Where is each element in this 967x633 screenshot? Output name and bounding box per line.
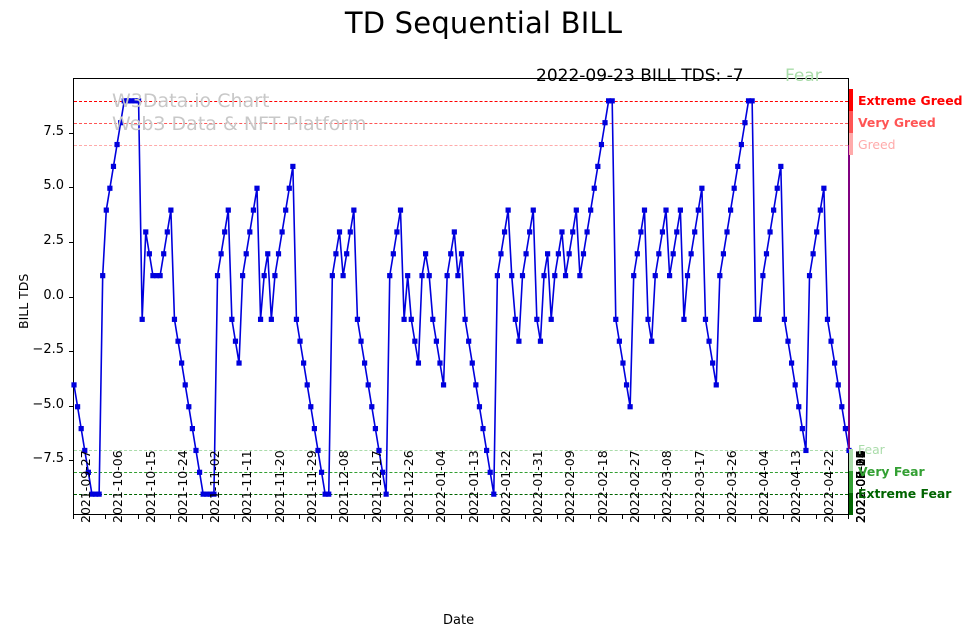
y-tick-mark <box>69 351 73 352</box>
data-point-marker <box>717 273 722 278</box>
data-point-marker <box>107 186 112 191</box>
data-point-marker <box>681 317 686 322</box>
data-point-marker <box>355 317 360 322</box>
data-point-marker <box>488 470 493 475</box>
x-tick-label: 2022-01-13 <box>466 450 481 523</box>
x-tick-mark <box>170 515 171 519</box>
data-point-marker <box>455 273 460 278</box>
y-tick-mark <box>69 242 73 243</box>
data-point-marker <box>348 229 353 234</box>
data-point-marker <box>523 251 528 256</box>
data-point-marker <box>602 120 607 125</box>
x-tick-mark <box>493 515 494 519</box>
data-point-marker <box>584 229 589 234</box>
y-axis-label: BILL TDS <box>16 273 31 328</box>
data-point-marker <box>721 251 726 256</box>
data-point-marker <box>276 251 281 256</box>
x-tick-mark <box>816 515 817 519</box>
y-tick-label: 7.5 <box>0 124 64 139</box>
data-point-marker <box>394 229 399 234</box>
data-point-marker <box>538 339 543 344</box>
data-point-marker <box>75 404 80 409</box>
data-point-marker <box>168 208 173 213</box>
data-point-marker <box>362 360 367 365</box>
x-tick-label: 2022-01-31 <box>530 450 545 523</box>
data-point-marker <box>308 404 313 409</box>
data-point-marker <box>351 208 356 213</box>
data-point-marker <box>172 317 177 322</box>
x-tick-mark <box>267 515 268 519</box>
threshold-axis-bar <box>849 111 853 133</box>
x-tick-mark <box>299 515 300 519</box>
data-point-marker <box>341 273 346 278</box>
data-point-marker <box>556 251 561 256</box>
data-point-marker <box>839 404 844 409</box>
data-point-marker <box>516 339 521 344</box>
data-point-marker <box>333 251 338 256</box>
threshold-axis-bar <box>849 449 853 471</box>
threshold-label-greed: Greed <box>858 137 896 152</box>
x-tick-mark <box>590 515 591 519</box>
data-point-marker <box>638 229 643 234</box>
data-point-marker <box>215 273 220 278</box>
data-point-marker <box>724 229 729 234</box>
data-point-marker <box>452 229 457 234</box>
x-tick-mark <box>783 515 784 519</box>
data-point-marker <box>280 229 285 234</box>
data-point-marker <box>240 273 245 278</box>
data-point-marker <box>821 186 826 191</box>
data-point-marker <box>775 186 780 191</box>
data-point-marker <box>692 229 697 234</box>
data-point-marker <box>764 251 769 256</box>
data-point-marker <box>114 142 119 147</box>
y-tick-mark <box>69 297 73 298</box>
data-point-marker <box>236 360 241 365</box>
data-point-marker <box>398 208 403 213</box>
data-point-marker <box>448 251 453 256</box>
threshold-label-very-greed: Very Greed <box>858 115 936 130</box>
data-point-marker <box>387 273 392 278</box>
x-tick-label: 2021-10-15 <box>143 450 158 523</box>
y-tick-label: −2.5 <box>0 342 64 357</box>
data-point-marker <box>233 339 238 344</box>
x-tick-label: 2022-04-22 <box>821 450 836 523</box>
data-point-marker <box>445 273 450 278</box>
threshold-axis-bar <box>849 133 853 155</box>
threshold-label-extreme-fear: Extreme Fear <box>858 486 951 501</box>
data-point-marker <box>800 426 805 431</box>
data-point-marker <box>305 382 310 387</box>
data-point-marker <box>757 317 762 322</box>
data-point-marker <box>477 404 482 409</box>
data-point-marker <box>506 208 511 213</box>
x-tick-mark <box>105 515 106 519</box>
data-point-marker <box>143 229 148 234</box>
data-point-marker <box>272 273 277 278</box>
data-point-marker <box>656 251 661 256</box>
data-point-marker <box>534 317 539 322</box>
data-point-marker <box>79 426 84 431</box>
data-point-marker <box>186 404 191 409</box>
data-point-marker <box>689 251 694 256</box>
data-point-marker <box>190 426 195 431</box>
data-point-marker <box>624 382 629 387</box>
x-axis-label: Date <box>443 613 474 628</box>
data-point-marker <box>427 273 432 278</box>
data-point-marker <box>620 360 625 365</box>
data-point-marker <box>423 251 428 256</box>
threshold-label-fear: Fear <box>858 442 885 457</box>
data-point-marker <box>782 317 787 322</box>
data-point-marker <box>631 273 636 278</box>
data-point-marker <box>732 186 737 191</box>
data-point-marker <box>767 229 772 234</box>
data-point-marker <box>470 360 475 365</box>
data-point-marker <box>193 448 198 453</box>
x-tick-label: 2022-01-22 <box>498 450 513 523</box>
x-tick-mark <box>848 515 849 519</box>
data-point-marker <box>373 426 378 431</box>
data-point-marker <box>563 273 568 278</box>
data-point-marker <box>818 208 823 213</box>
x-tick-mark <box>138 515 139 519</box>
data-point-marker <box>269 317 274 322</box>
x-tick-mark <box>234 515 235 519</box>
data-point-marker <box>330 273 335 278</box>
data-point-marker <box>807 273 812 278</box>
data-point-marker <box>814 229 819 234</box>
data-point-marker <box>570 229 575 234</box>
data-point-marker <box>649 339 654 344</box>
data-point-marker <box>785 339 790 344</box>
x-tick-mark <box>428 515 429 519</box>
data-point-marker <box>567 251 572 256</box>
x-tick-label: 2021-10-06 <box>110 450 125 523</box>
data-point-marker <box>760 273 765 278</box>
x-tick-label: 2022-02-18 <box>595 450 610 523</box>
data-point-marker <box>502 229 507 234</box>
x-tick-label: 2021-11-11 <box>239 450 254 523</box>
data-point-marker <box>158 273 163 278</box>
data-point-marker <box>559 229 564 234</box>
chart-canvas: TD Sequential BILL 7.55.02.50.0−2.5−5.0−… <box>0 0 967 633</box>
data-point-marker <box>696 208 701 213</box>
data-point-marker <box>495 273 500 278</box>
data-point-marker <box>71 382 76 387</box>
data-point-marker <box>265 251 270 256</box>
data-point-marker <box>222 229 227 234</box>
data-point-marker <box>401 317 406 322</box>
data-point-marker <box>735 164 740 169</box>
data-point-marker <box>642 208 647 213</box>
x-tick-mark <box>751 515 752 519</box>
threshold-label-very-fear: Very Fear <box>858 464 925 479</box>
x-tick-mark <box>73 515 74 519</box>
data-point-marker <box>836 382 841 387</box>
threshold-axis-bar <box>849 493 853 515</box>
data-point-marker <box>592 186 597 191</box>
y-tick-mark <box>69 187 73 188</box>
data-point-marker <box>294 317 299 322</box>
threshold-label-extreme-greed: Extreme Greed <box>858 93 962 108</box>
data-point-marker <box>405 273 410 278</box>
data-point-marker <box>728 208 733 213</box>
data-point-marker <box>384 492 389 497</box>
x-tick-mark <box>687 515 688 519</box>
data-point-marker <box>416 360 421 365</box>
watermark-line-2: Web3 Data & NFT Platform <box>112 113 366 135</box>
x-tick-label: 2022-03-17 <box>692 450 707 523</box>
data-point-marker <box>484 448 489 453</box>
y-tick-label: −5.0 <box>0 397 64 412</box>
data-point-marker <box>262 273 267 278</box>
data-point-marker <box>685 273 690 278</box>
data-point-marker <box>283 208 288 213</box>
y-tick-label: 0.0 <box>0 288 64 303</box>
data-point-marker <box>437 360 442 365</box>
x-tick-label: 2022-03-26 <box>724 450 739 523</box>
data-point-marker <box>498 251 503 256</box>
data-point-marker <box>706 339 711 344</box>
data-point-marker <box>574 208 579 213</box>
y-tick-mark <box>69 133 73 134</box>
data-point-marker <box>391 251 396 256</box>
x-tick-label: 2022-02-09 <box>562 450 577 523</box>
data-point-marker <box>531 208 536 213</box>
current-date-marker <box>848 145 850 451</box>
data-point-marker <box>617 339 622 344</box>
x-tick-label: 2021-12-08 <box>336 450 351 523</box>
data-point-marker <box>473 382 478 387</box>
x-tick-label: 2021-11-20 <box>272 450 287 523</box>
x-tick-label: 2021-12-17 <box>369 450 384 523</box>
x-tick-mark <box>364 515 365 519</box>
data-point-marker <box>219 251 224 256</box>
x-tick-label: 2021-11-29 <box>304 450 319 523</box>
x-tick-mark <box>331 515 332 519</box>
data-point-marker <box>645 317 650 322</box>
y-tick-label: 2.5 <box>0 233 64 248</box>
data-point-marker <box>545 251 550 256</box>
data-point-marker <box>491 492 496 497</box>
data-point-marker <box>581 251 586 256</box>
data-point-marker <box>111 164 116 169</box>
data-point-marker <box>599 142 604 147</box>
data-point-marker <box>258 317 263 322</box>
x-tick-mark <box>396 515 397 519</box>
x-tick-mark <box>719 515 720 519</box>
data-point-marker <box>667 273 672 278</box>
data-point-marker <box>480 426 485 431</box>
data-point-marker <box>254 186 259 191</box>
data-point-marker <box>527 229 532 234</box>
data-point-marker <box>179 360 184 365</box>
x-tick-label: 2022-01-04 <box>433 450 448 523</box>
data-point-marker <box>183 382 188 387</box>
data-point-marker <box>742 120 747 125</box>
x-tick-label: 2022-03-08 <box>659 450 674 523</box>
data-point-marker <box>358 339 363 344</box>
x-tick-label: 2021-12-26 <box>401 450 416 523</box>
threshold-axis-bar <box>849 471 853 493</box>
data-point-marker <box>312 426 317 431</box>
data-point-marker <box>326 492 331 497</box>
x-tick-mark <box>654 515 655 519</box>
data-point-marker <box>610 98 615 103</box>
x-tick-label: 2022-04-13 <box>788 450 803 523</box>
data-point-marker <box>297 339 302 344</box>
x-tick-label: 2021-11-02 <box>207 450 222 523</box>
data-point-marker <box>778 164 783 169</box>
x-tick-label: 2022-02-27 <box>627 450 642 523</box>
data-point-marker <box>97 492 102 497</box>
data-point-marker <box>140 317 145 322</box>
latest-mood-annotation: Fear <box>785 66 822 86</box>
data-point-marker <box>613 317 618 322</box>
data-point-marker <box>319 470 324 475</box>
data-point-marker <box>825 317 830 322</box>
data-point-marker <box>789 360 794 365</box>
data-point-marker <box>541 273 546 278</box>
data-point-marker <box>419 273 424 278</box>
data-point-marker <box>337 229 342 234</box>
data-point-marker <box>100 273 105 278</box>
data-point-marker <box>628 404 633 409</box>
data-point-marker <box>552 273 557 278</box>
data-point-marker <box>595 164 600 169</box>
data-point-marker <box>660 229 665 234</box>
y-tick-label: −7.5 <box>0 451 64 466</box>
data-point-marker <box>244 251 249 256</box>
data-point-marker <box>653 273 658 278</box>
data-point-marker <box>635 251 640 256</box>
x-tick-mark <box>202 515 203 519</box>
data-point-marker <box>287 186 292 191</box>
data-point-marker <box>832 360 837 365</box>
data-point-marker <box>147 251 152 256</box>
data-point-marker <box>229 317 234 322</box>
x-tick-label: 2021-09-27 <box>78 450 93 523</box>
data-point-marker <box>671 251 676 256</box>
data-point-marker <box>509 273 514 278</box>
data-point-marker <box>226 208 231 213</box>
data-point-marker <box>369 404 374 409</box>
data-point-marker <box>466 339 471 344</box>
data-point-marker <box>793 382 798 387</box>
data-point-marker <box>412 339 417 344</box>
x-tick-mark <box>622 515 623 519</box>
series-line <box>74 101 849 494</box>
data-point-marker <box>462 317 467 322</box>
x-tick-mark <box>557 515 558 519</box>
data-point-marker <box>409 317 414 322</box>
data-point-marker <box>811 251 816 256</box>
data-point-marker <box>161 251 166 256</box>
threshold-axis-bar <box>849 89 853 111</box>
data-point-marker <box>366 382 371 387</box>
x-tick-label: 2021-10-24 <box>175 450 190 523</box>
data-point-marker <box>165 229 170 234</box>
y-tick-mark <box>69 406 73 407</box>
watermark-line-1: W3Data.io Chart <box>112 90 269 112</box>
data-point-marker <box>175 339 180 344</box>
data-point-marker <box>739 142 744 147</box>
data-point-marker <box>703 317 708 322</box>
data-point-marker <box>828 339 833 344</box>
data-point-marker <box>803 448 808 453</box>
data-point-marker <box>434 339 439 344</box>
data-point-marker <box>577 273 582 278</box>
x-tick-mark <box>461 515 462 519</box>
data-point-marker <box>104 208 109 213</box>
data-point-marker <box>714 382 719 387</box>
data-point-marker <box>674 229 679 234</box>
data-point-marker <box>290 164 295 169</box>
x-tick-mark <box>525 515 526 519</box>
data-point-marker <box>771 208 776 213</box>
data-point-marker <box>750 98 755 103</box>
data-point-marker <box>301 360 306 365</box>
data-point-marker <box>520 273 525 278</box>
data-point-marker <box>251 208 256 213</box>
y-tick-label: 5.0 <box>0 178 64 193</box>
data-point-marker <box>430 317 435 322</box>
data-point-marker <box>588 208 593 213</box>
data-point-marker <box>344 251 349 256</box>
page-title: TD Sequential BILL <box>0 6 967 40</box>
data-point-marker <box>678 208 683 213</box>
x-tick-label: 2022-04-04 <box>756 450 771 523</box>
data-point-marker <box>549 317 554 322</box>
data-point-marker <box>441 382 446 387</box>
data-point-marker <box>710 360 715 365</box>
data-point-marker <box>197 470 202 475</box>
data-point-marker <box>796 404 801 409</box>
data-point-marker <box>513 317 518 322</box>
data-point-marker <box>247 229 252 234</box>
data-point-marker <box>459 251 464 256</box>
latest-value-annotation: 2022-09-23 BILL TDS: -7 <box>536 66 744 86</box>
data-point-marker <box>699 186 704 191</box>
y-tick-mark <box>69 460 73 461</box>
data-point-marker <box>663 208 668 213</box>
